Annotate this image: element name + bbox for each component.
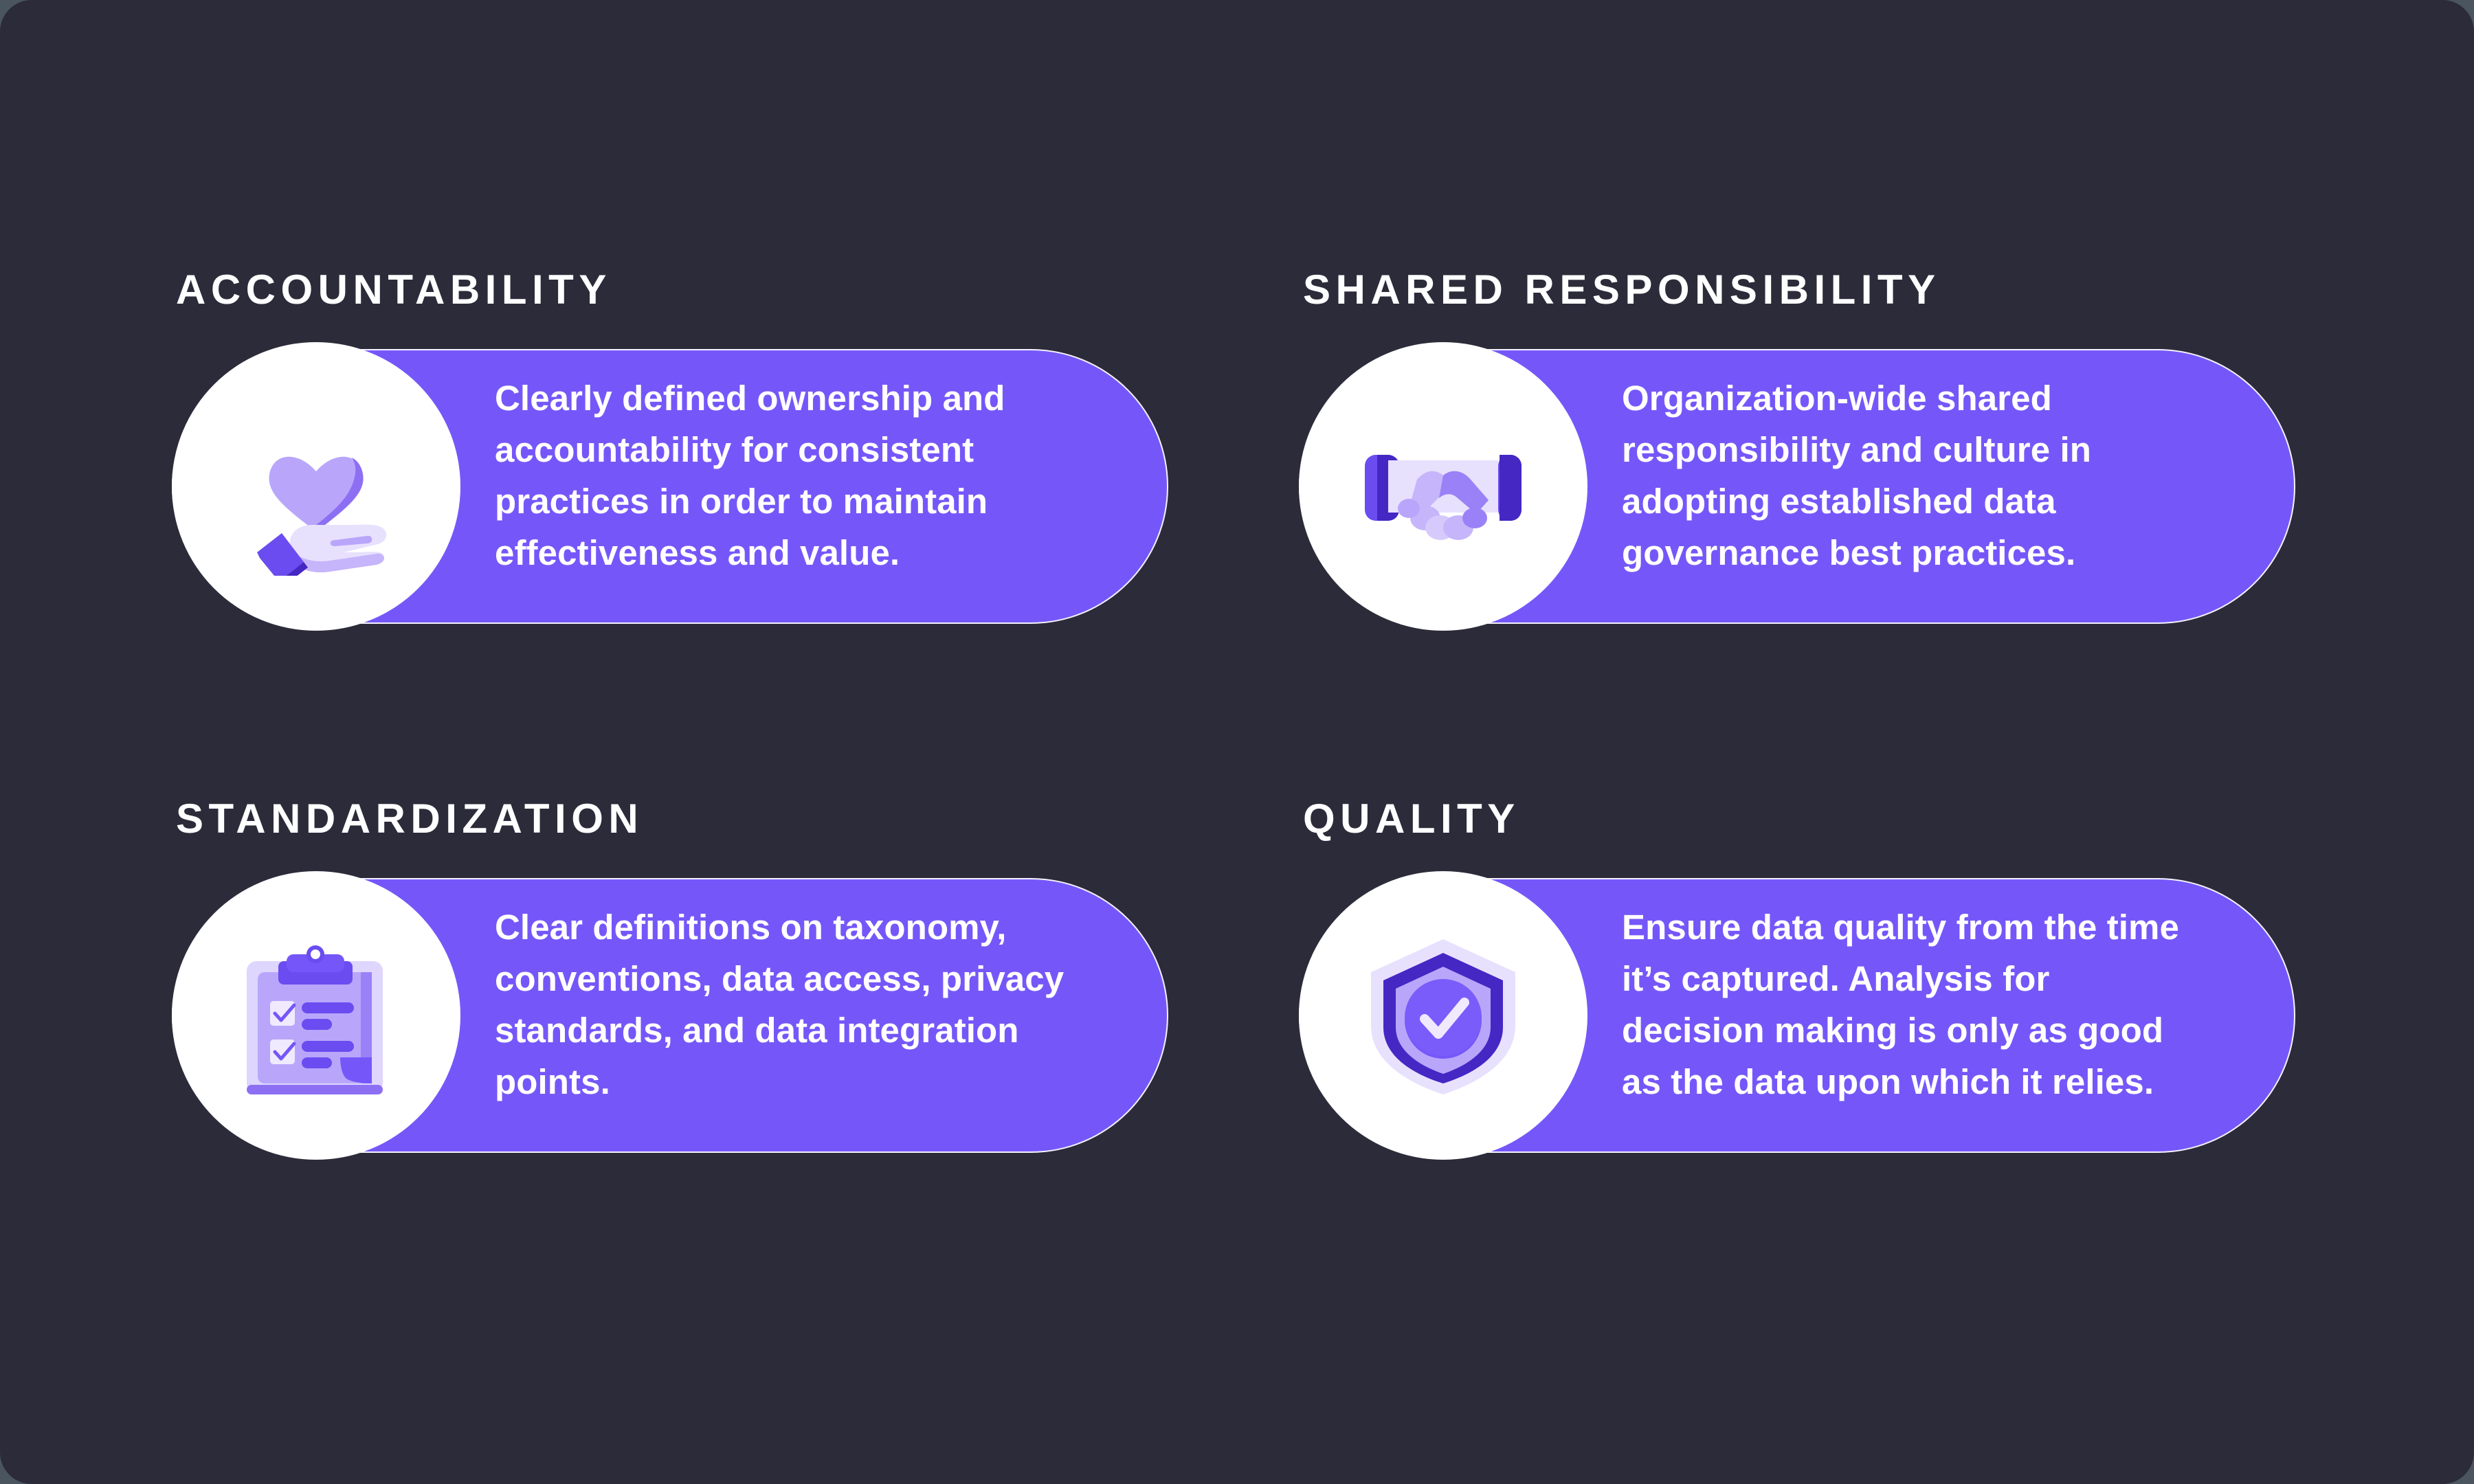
card-body: Clearly defined ownership and accountabi… <box>495 372 1100 578</box>
icon-badge <box>1299 871 1587 1160</box>
principles-grid: ACCOUNTABILITY <box>172 268 2302 1216</box>
principle-card-quality: QUALITY <box>1299 797 2302 1209</box>
handshake-icon <box>1354 397 1533 576</box>
shield-check-icon <box>1357 930 1529 1101</box>
principle-card-standardization: STANDARDIZATION <box>172 797 1175 1209</box>
card-title: SHARED RESPONSIBILITY <box>1303 268 1941 312</box>
card-body: Clear definitions on taxonomy, conventio… <box>495 901 1113 1108</box>
icon-badge <box>1299 342 1587 631</box>
principle-card-accountability: ACCOUNTABILITY <box>172 268 1175 680</box>
card-title: STANDARDIZATION <box>176 797 643 841</box>
clipboard-checklist-icon <box>230 930 402 1101</box>
principle-card-shared-responsibility: SHARED RESPONSIBILITY <box>1299 268 2302 680</box>
card-title: ACCOUNTABILITY <box>176 268 612 312</box>
icon-badge <box>172 342 460 631</box>
card-title: QUALITY <box>1303 797 1520 841</box>
infographic-canvas: ACCOUNTABILITY <box>0 0 2474 1484</box>
icon-badge <box>172 871 460 1160</box>
heart-in-hand-icon <box>227 397 405 576</box>
card-body: Organization-wide shared responsibility … <box>1622 372 2165 578</box>
card-body: Ensure data quality from the time it’s c… <box>1622 901 2199 1108</box>
